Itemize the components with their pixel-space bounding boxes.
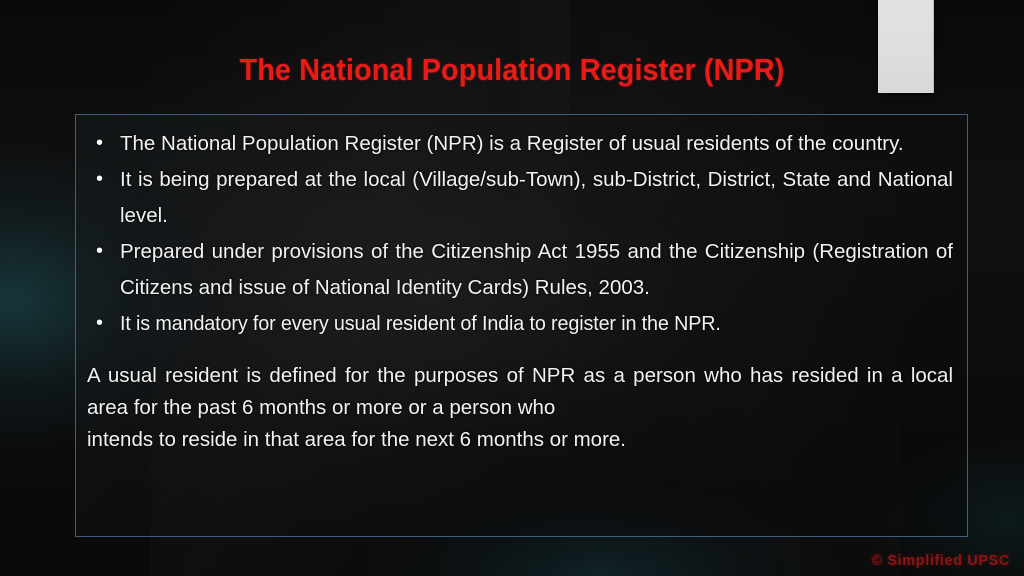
presentation-slide: The National Population Register (NPR) T… [0,0,1024,576]
content-box: The National Population Register (NPR) i… [75,114,968,537]
bullet-text: Prepared under provisions of the Citizen… [120,240,953,299]
list-item: It is being prepared at the local (Villa… [90,162,953,234]
list-item: Prepared under provisions of the Citizen… [90,234,953,306]
list-item: The National Population Register (NPR) i… [90,126,953,162]
bullet-list: The National Population Register (NPR) i… [76,115,967,342]
list-item: It is mandatory for every usual resident… [90,306,953,342]
copyright-icon: © [871,553,882,569]
definition-paragraph-body: A usual resident is defined for the purp… [87,364,953,419]
page-title: The National Population Register (NPR) [36,52,988,88]
bullet-text: The National Population Register (NPR) i… [120,132,904,155]
bullet-text: It is being prepared at the local (Villa… [120,168,953,227]
definition-paragraph-last-line: intends to reside in that area for the n… [87,424,953,456]
bullet-text: It is mandatory for every usual resident… [120,306,721,342]
watermark-text: Simplified UPSC [887,553,1010,569]
watermark: © Simplified UPSC [871,553,1010,569]
definition-paragraph: A usual resident is defined for the purp… [76,342,967,456]
